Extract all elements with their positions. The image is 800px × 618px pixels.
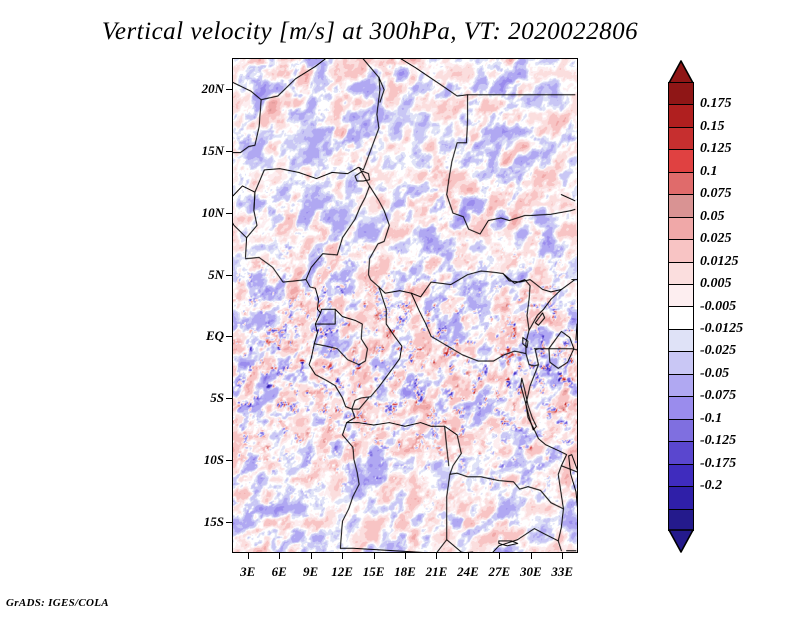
y-axis-tick-label: 15N <box>202 143 224 159</box>
colorbar-tick-label: 0.005 <box>700 276 732 292</box>
x-axis-tick-mark <box>374 553 375 559</box>
x-axis-tick-mark <box>562 553 563 559</box>
y-axis-tick-label: EQ <box>206 328 224 344</box>
colorbar-cell <box>669 442 693 464</box>
x-axis-tick-mark <box>342 553 343 559</box>
colorbar-cell <box>669 83 693 105</box>
x-axis-tick-label: 9E <box>303 564 318 580</box>
colorbar-cell <box>669 218 693 240</box>
colorbar-swatches <box>668 82 694 531</box>
x-axis-labels: 3E6E9E12E15E18E21E24E27E30E33E <box>232 564 578 584</box>
colorbar-tick-label: -0.125 <box>700 433 736 449</box>
x-axis-tick-label: 30E <box>520 564 542 580</box>
x-axis-tick-mark <box>311 553 312 559</box>
colorbar-cell <box>669 128 693 150</box>
colorbar-cell <box>669 195 693 217</box>
colorbar-tick-label: 0.175 <box>700 96 732 112</box>
x-axis-tick-mark <box>499 553 500 559</box>
colorbar-tick-label: -0.05 <box>700 366 729 382</box>
colorbar <box>668 60 694 553</box>
y-axis-tick-label: 5N <box>208 267 224 283</box>
colorbar-cell <box>669 263 693 285</box>
colorbar-tick-label: 0.125 <box>700 141 732 157</box>
x-axis-tick-mark <box>248 553 249 559</box>
x-axis-tick-mark <box>531 553 532 559</box>
x-axis-tick-mark <box>405 553 406 559</box>
y-axis-tick-label: 15S <box>204 514 224 530</box>
colorbar-tick-label: -0.1 <box>700 411 722 427</box>
colorbar-cell <box>669 352 693 374</box>
y-axis-tick-label: 5S <box>210 390 224 406</box>
colorbar-cell <box>669 465 693 487</box>
colorbar-min-arrow-icon <box>668 529 694 553</box>
page-title: Vertical velocity [m/s] at 300hPa, VT: 2… <box>0 18 740 46</box>
x-axis-tick-mark <box>279 553 280 559</box>
x-axis-tick-label: 27E <box>489 564 511 580</box>
colorbar-tick-label: 0.05 <box>700 209 725 225</box>
x-axis-tick-label: 12E <box>331 564 353 580</box>
colorbar-cell <box>669 285 693 307</box>
colorbar-tick-label: 0.1 <box>700 164 718 180</box>
colorbar-cell <box>669 173 693 195</box>
colorbar-cell <box>669 150 693 172</box>
colorbar-cell <box>669 330 693 352</box>
colorbar-max-arrow-icon <box>668 60 694 84</box>
colorbar-tick-label: -0.025 <box>700 343 736 359</box>
colorbar-cell <box>669 397 693 419</box>
y-axis-tick-label: 10N <box>202 205 224 221</box>
colorbar-cell <box>669 487 693 509</box>
colorbar-tick-label: -0.0125 <box>700 321 743 337</box>
colorbar-tick-label: 0.025 <box>700 231 732 247</box>
map-borders-overlay <box>233 59 577 552</box>
x-axis-tick-label: 21E <box>426 564 448 580</box>
map-plot-area <box>232 58 578 553</box>
colorbar-tick-label: -0.175 <box>700 456 736 472</box>
colorbar-tick-label: -0.2 <box>700 478 722 494</box>
x-axis-tick-label: 3E <box>240 564 255 580</box>
x-axis-tick-label: 18E <box>394 564 416 580</box>
colorbar-tick-label: -0.075 <box>700 388 736 404</box>
colorbar-tick-label: 0.0125 <box>700 254 739 270</box>
colorbar-tick-label: 0.15 <box>700 119 725 135</box>
colorbar-cell <box>669 420 693 442</box>
x-axis-tick-label: 15E <box>363 564 385 580</box>
colorbar-tick-label: 0.075 <box>700 186 732 202</box>
colorbar-tick-label: -0.005 <box>700 299 736 315</box>
colorbar-cell <box>669 375 693 397</box>
x-axis-tick-label: 6E <box>272 564 287 580</box>
y-axis-tick-label: 20N <box>202 81 224 97</box>
attribution-footer: GrADS: IGES/COLA <box>6 597 109 609</box>
colorbar-cell <box>669 240 693 262</box>
x-axis-tick-label: 24E <box>457 564 479 580</box>
y-axis-labels: 20N15N10N5NEQ5S10S15S <box>180 58 224 553</box>
y-axis-tick-label: 10S <box>204 452 224 468</box>
x-axis-tick-mark <box>436 553 437 559</box>
colorbar-cell <box>669 105 693 127</box>
x-axis-tick-label: 33E <box>551 564 573 580</box>
x-axis-tick-mark <box>468 553 469 559</box>
colorbar-labels: 0.1750.150.1250.10.0750.050.0250.01250.0… <box>700 60 790 553</box>
colorbar-cell <box>669 308 693 330</box>
